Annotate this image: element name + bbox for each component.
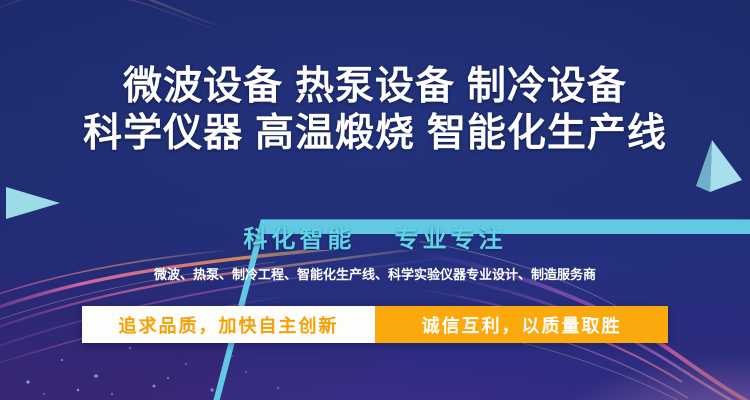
slogan-main-left: 科化智能 [243,226,355,253]
triangle-right-icon [4,183,62,221]
slogan-main: 科化智能 专业专注 [0,219,750,254]
headline-line-2: 科学仪器 高温煅烧 智能化生产线 [0,110,750,158]
cta-integrity-quality-button[interactable]: 诚信互利，以质量取胜 [375,306,668,343]
slogan-main-right: 专业专注 [395,226,507,253]
cta-button-row: 追求品质，加快自主创新 诚信互利，以质量取胜 [82,306,668,343]
promo-banner: 微波设备 热泵设备 制冷设备 科学仪器 高温煅烧 智能化生产线 科化智能 专业专… [0,0,750,400]
cta-pursue-quality-button[interactable]: 追求品质，加快自主创新 [82,306,375,343]
headline-line-1: 微波设备 热泵设备 制冷设备 [0,64,750,110]
slogan-subtitle: 微波、热泵、制冷工程、智能化生产线、科学实验仪器专业设计、制造服务商 [0,264,750,283]
banner-headline: 微波设备 热泵设备 制冷设备 科学仪器 高温煅烧 智能化生产线 [0,64,750,158]
